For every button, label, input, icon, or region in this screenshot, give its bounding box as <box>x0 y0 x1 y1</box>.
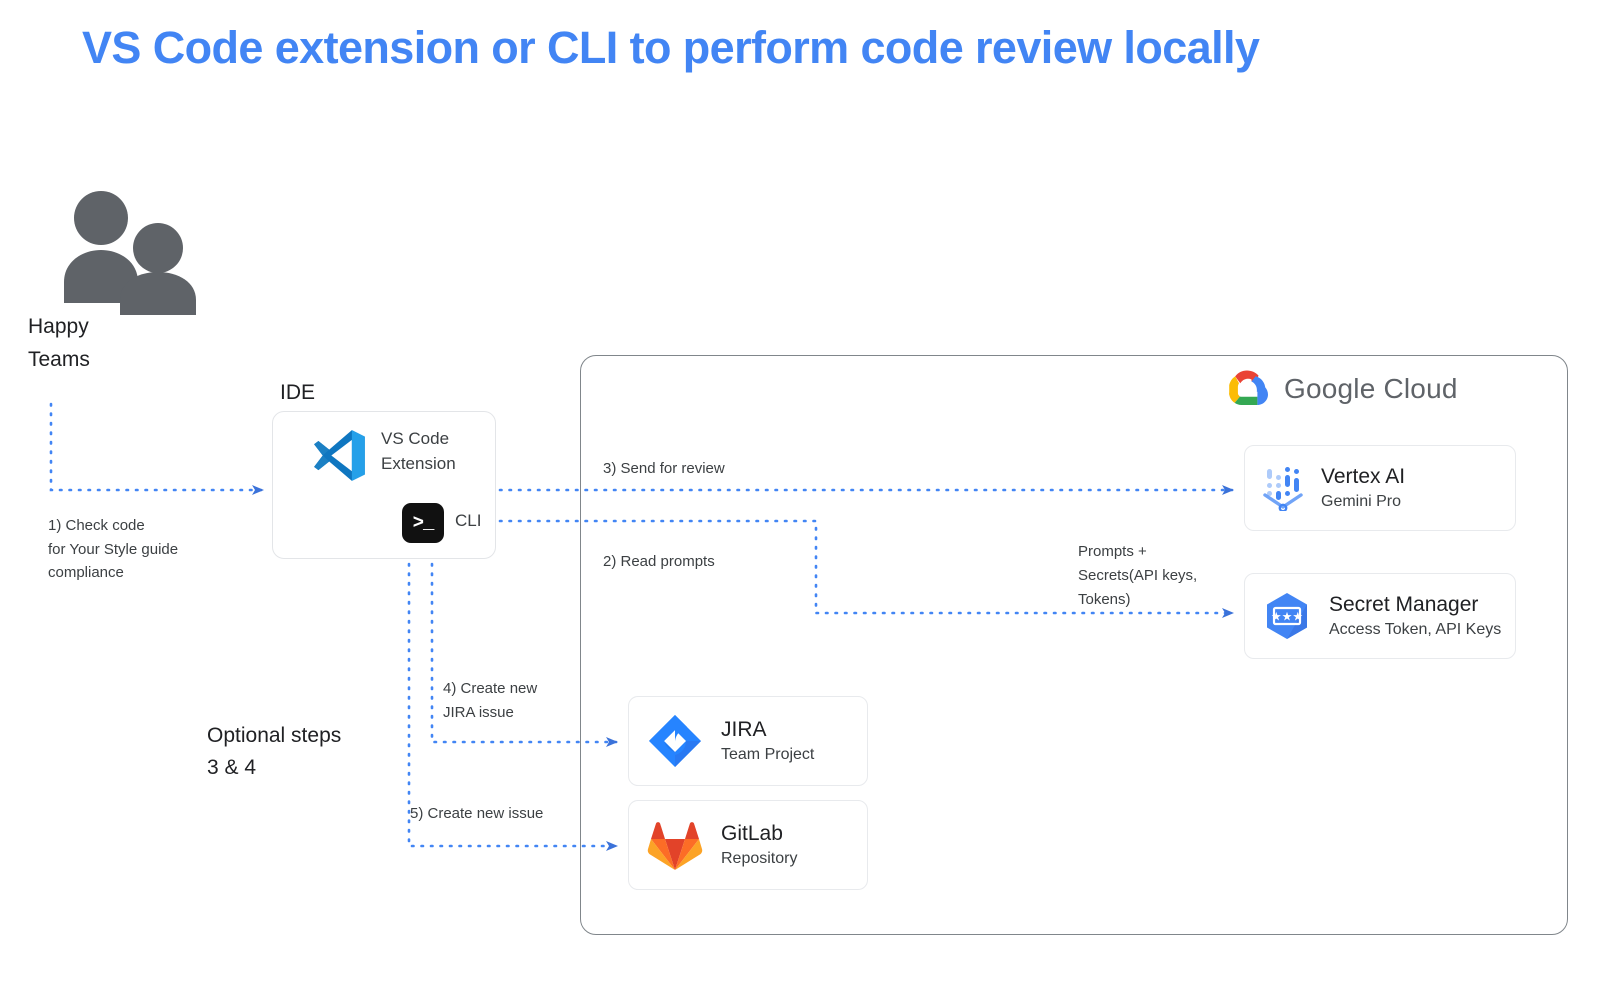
service-card-secret-manager[interactable]: ★★★ Secret Manager Access Token, API Key… <box>1244 573 1516 659</box>
flow-arrow-step1 <box>51 404 262 490</box>
gitlab-subtitle: Repository <box>721 847 797 871</box>
jira-subtitle: Team Project <box>721 743 814 767</box>
ide-label: IDE <box>280 381 315 405</box>
jira-title: JIRA <box>721 716 814 743</box>
svg-text:★★★: ★★★ <box>1271 610 1303 624</box>
vertex-ai-icon <box>1263 465 1303 511</box>
step1-label: 1) Check code for Your Style guide compl… <box>48 514 178 585</box>
optional-steps-label: Optional steps 3 & 4 <box>207 720 341 784</box>
step5-label: 5) Create new issue <box>410 802 543 826</box>
vertex-ai-title: Vertex AI <box>1321 463 1405 490</box>
vscode-icon <box>312 428 368 482</box>
terminal-icon: >_ <box>402 503 444 543</box>
step4-label: 4) Create new JIRA issue <box>443 677 537 724</box>
google-cloud-branding: Google Cloud <box>1224 370 1458 408</box>
secret-manager-title: Secret Manager <box>1329 591 1501 618</box>
vscode-extension-label: VS Code Extension <box>381 426 456 476</box>
secret-manager-subtitle: Access Token, API Keys <box>1329 618 1501 642</box>
google-cloud-name: Google Cloud <box>1284 373 1458 405</box>
diagram-canvas: VS Code extension or CLI to perform code… <box>0 0 1600 982</box>
google-cloud-icon <box>1224 370 1270 408</box>
gitlab-title: GitLab <box>721 820 797 847</box>
jira-icon <box>647 713 703 769</box>
happy-teams-label: Happy Teams <box>28 310 90 376</box>
gitlab-icon <box>647 818 703 872</box>
service-card-jira[interactable]: JIRA Team Project <box>628 696 868 786</box>
service-card-gitlab[interactable]: GitLab Repository <box>628 800 868 890</box>
vertex-ai-subtitle: Gemini Pro <box>1321 490 1405 514</box>
service-card-vertex-ai[interactable]: Vertex AI Gemini Pro <box>1244 445 1516 531</box>
cli-label: CLI <box>455 511 481 531</box>
people-icon <box>62 190 212 315</box>
secret-manager-icon: ★★★ <box>1263 591 1311 641</box>
